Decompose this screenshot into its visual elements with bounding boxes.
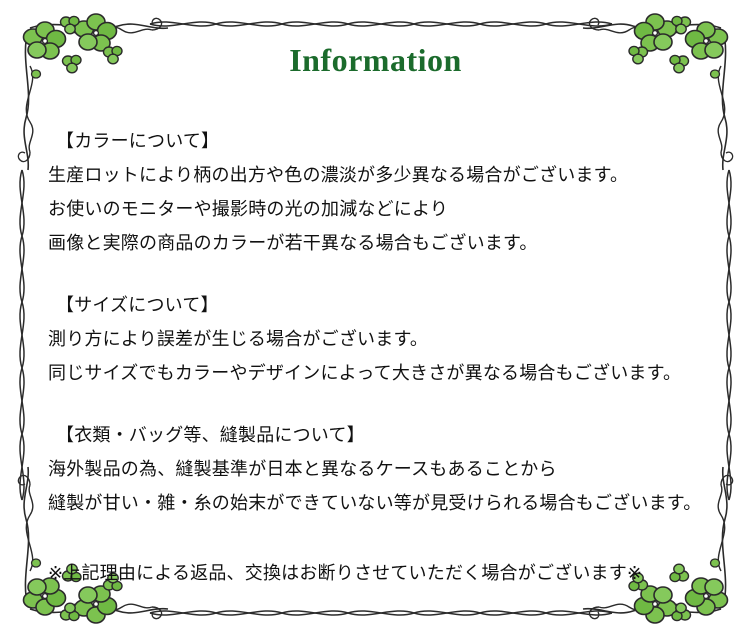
size-section-line-2: 同じサイズでもカラーやデザインによって大きさが異なる場合もございます。	[48, 356, 708, 390]
color-section-line-1: 生産ロットにより柄の出方や色の濃淡が多少異なる場合がございます。	[48, 158, 708, 192]
size-section-line-1: 測り方により誤差が生じる場合がございます。	[48, 322, 708, 356]
sewing-section-line-2: 縫製が甘い・雑・糸の始末ができていない等が見受けられる場合もございます。	[48, 486, 708, 520]
sewing-section: 【衣類・バッグ等、縫製品について】 海外製品の為、縫製基準が日本と異なるケースも…	[48, 418, 708, 520]
color-section: 【カラーについて】 生産ロットにより柄の出方や色の濃淡が多少異なる場合がございま…	[48, 124, 708, 260]
sewing-section-line-1: 海外製品の為、縫製基準が日本と異なるケースもあることから	[48, 452, 708, 486]
color-section-line-2: お使いのモニターや撮影時の光の加減などにより	[48, 192, 708, 226]
frame-top-rail	[150, 22, 612, 26]
notice-content: 【カラーについて】 生産ロットにより柄の出方や色の濃淡が多少異なる場合がございま…	[48, 124, 708, 590]
color-section-line-3: 画像と実際の商品のカラーが若干異なる場合もございます。	[48, 226, 708, 260]
frame-right-rail	[727, 170, 731, 500]
return-policy-note: ※上記理由による返品、交換はお断りさせていただく場合がございます※	[48, 556, 708, 590]
sewing-section-heading: 【衣類・バッグ等、縫製品について】	[48, 418, 708, 452]
size-section-heading: 【サイズについて】	[48, 288, 708, 322]
information-notice-page: Information 【カラーについて】 生産ロットにより柄の出方や色の濃淡が…	[0, 0, 751, 637]
frame-left-rail	[20, 170, 24, 500]
color-section-heading: 【カラーについて】	[48, 124, 708, 158]
size-section: 【サイズについて】 測り方により誤差が生じる場合がございます。 同じサイズでもカ…	[48, 288, 708, 390]
page-title: Information	[0, 44, 751, 76]
frame-bottom-rail	[150, 611, 612, 615]
return-policy-note-text: ※上記理由による返品、交換はお断りさせていただく場合がございます※	[48, 556, 708, 590]
